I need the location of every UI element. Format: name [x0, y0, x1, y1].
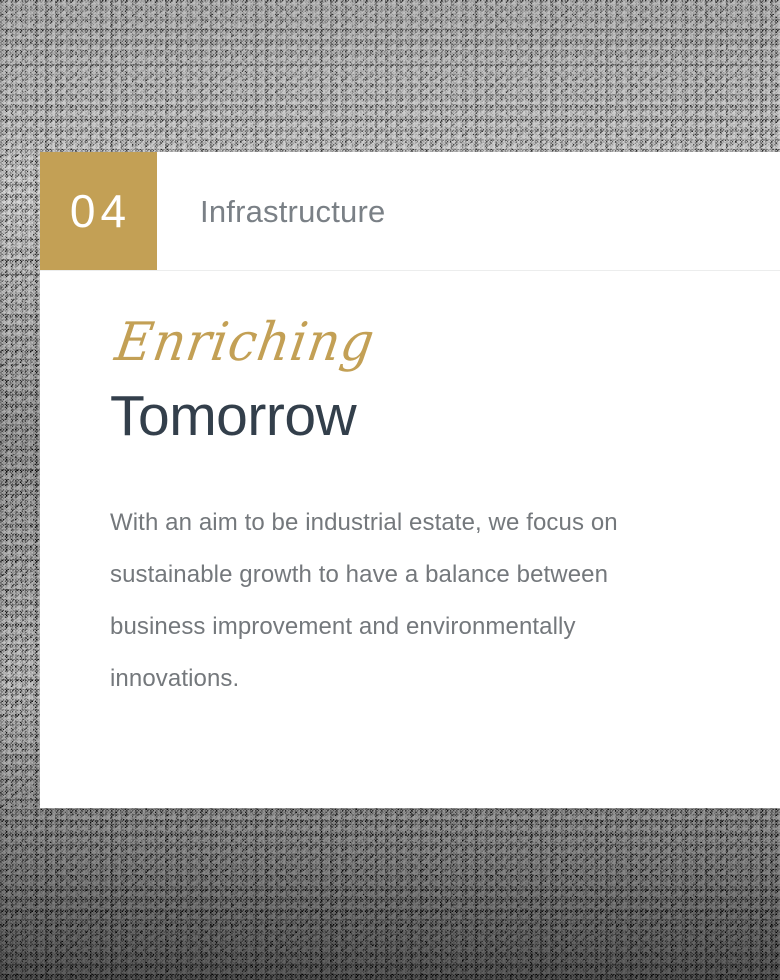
section-number: 04	[66, 188, 131, 234]
card-body: Enriching Tomorrow With an aim to be ind…	[40, 271, 780, 705]
card-header: 04 Infrastructure	[40, 152, 780, 271]
section-title: Infrastructure	[157, 152, 385, 270]
body-paragraph: With an aim to be industrial estate, we …	[110, 497, 710, 705]
main-heading: Tomorrow	[110, 387, 710, 447]
content-card: 04 Infrastructure Enriching Tomorrow Wit…	[40, 152, 780, 808]
slide-stage: 04 Infrastructure Enriching Tomorrow Wit…	[0, 0, 780, 980]
section-number-block: 04	[40, 152, 157, 270]
script-heading: Enriching	[110, 315, 720, 381]
